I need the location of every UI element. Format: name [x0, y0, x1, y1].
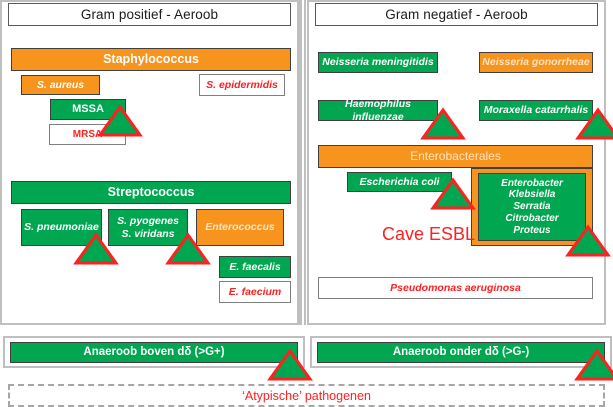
anaerobic-below-diaphragm-bar[interactable]: Anaeroob onder dδ (>G-): [317, 342, 605, 363]
coverage-triangle-e-coli: [431, 178, 475, 210]
coverage-triangle-s-pyogenes: [166, 233, 210, 265]
species-serratia: Serratia: [479, 201, 585, 213]
species-enterobacter: Enterobacter: [479, 178, 585, 190]
cave-esbl-label: Cave ESBL: [382, 224, 475, 245]
atypical-pathogens-box[interactable]: ‘Atypische’ pathogenen: [8, 384, 605, 407]
panel-gram-negative-title: Gram negatief - Aeroob: [315, 3, 598, 26]
diagram-canvas: Gram positief - Aeroob Staphylococcus S.…: [0, 0, 613, 407]
coverage-triangle-mssa: [98, 105, 142, 137]
species-e-faecium[interactable]: E. faecium: [219, 281, 291, 303]
species-neisseria-gonorrheae[interactable]: Neisseria gonorrheae: [479, 52, 593, 73]
species-haemophilus-influenzae[interactable]: Haemophilus influenzae: [318, 100, 438, 121]
group-header-streptococcus[interactable]: Streptococcus: [11, 181, 291, 204]
group-header-staphylococcus[interactable]: Staphylococcus: [11, 48, 291, 71]
species-e-faecalis[interactable]: E. faecalis: [219, 256, 291, 278]
coverage-triangle-s-pneumoniae: [74, 233, 118, 265]
coverage-triangle-anaerobic-left: [268, 349, 312, 381]
panel-separator-inner: [304, 0, 306, 325]
species-s-aureus[interactable]: S. aureus: [21, 75, 100, 95]
anaerobic-above-diaphragm-bar[interactable]: Anaeroob boven dδ (>G+): [10, 342, 298, 363]
coverage-triangle-anaerobic-right: [575, 349, 613, 381]
coverage-triangle-haemophilus: [421, 108, 465, 140]
coverage-triangle-esbl: [566, 225, 610, 257]
coverage-triangle-moraxella: [576, 108, 613, 140]
species-klebsiella: Klebsiella: [479, 189, 585, 201]
species-neisseria-meningitidis[interactable]: Neisseria meningitidis: [318, 52, 438, 73]
species-s-epidermidis[interactable]: S. epidermidis: [199, 74, 285, 96]
panel-separator: [299, 0, 302, 325]
panel-gram-positive-title: Gram positief - Aeroob: [8, 3, 291, 26]
species-pseudomonas-aeruginosa[interactable]: Pseudomonas aeruginosa: [318, 277, 593, 299]
group-header-enterobacterales[interactable]: Enterobacterales: [318, 145, 593, 168]
species-citrobacter: Citrobacter: [479, 213, 585, 225]
species-s-pyogenes: S. pyogenes: [109, 215, 187, 227]
